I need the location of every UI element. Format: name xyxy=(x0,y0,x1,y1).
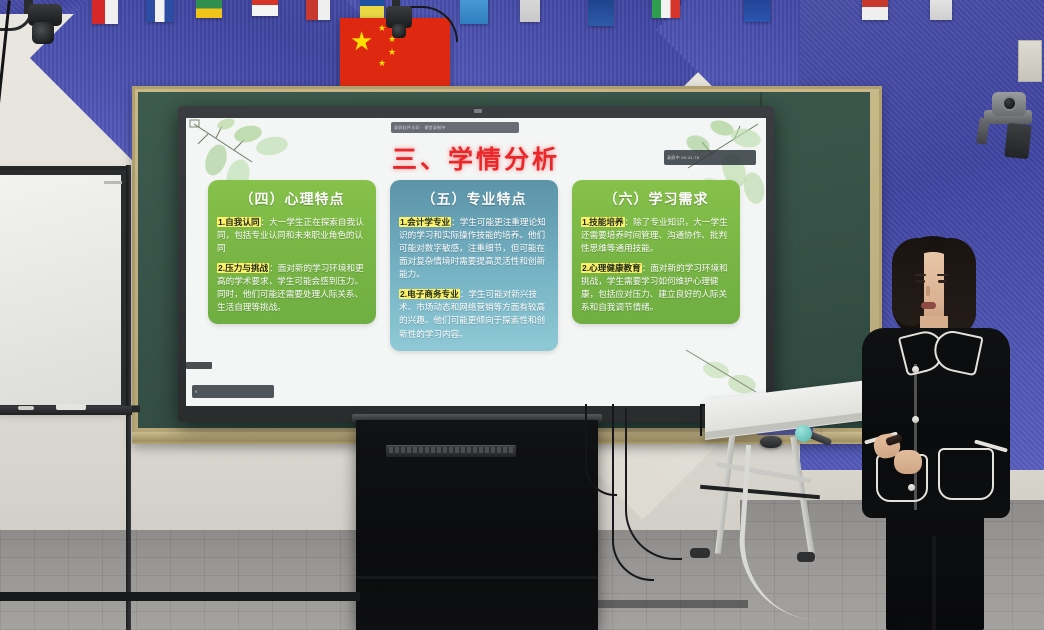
mobile-whiteboard[interactable] xyxy=(0,170,126,410)
keyboard-keys[interactable] xyxy=(389,447,513,453)
power-indicator-icon xyxy=(474,109,482,113)
presenter-eye xyxy=(938,280,947,283)
card-paragraph: 2.压力与挑战：面对新的学习环境和更高的学术要求，学生可能会感到压力。同时，他们… xyxy=(217,262,367,314)
whiteboard-stand-post xyxy=(126,165,131,630)
microphone-icon[interactable] xyxy=(795,425,812,442)
card-body: 1.自我认同：大一学生正在探索自我认同，包括专业认同和未来职业角色的认同 2.压… xyxy=(217,216,367,314)
card-body: 1.技能培养：除了专业知识，大一学生还需要培养时间管理、沟通协作、批判性思维等通… xyxy=(581,216,731,314)
card-heading: （四）心理特点 xyxy=(217,189,367,209)
jacket-button xyxy=(912,366,919,373)
presenter-eyebrow xyxy=(937,274,948,276)
wall-plate xyxy=(1018,40,1042,82)
cable xyxy=(625,408,682,560)
flag-banner xyxy=(862,0,888,20)
flag-banner xyxy=(306,0,330,20)
desk-caster xyxy=(690,548,710,558)
card-heading: （六）学习需求 xyxy=(581,189,731,209)
highlight-label: 1.自我认同 xyxy=(217,217,261,227)
flag-star-large: ★ xyxy=(350,28,373,54)
flag-banner xyxy=(196,0,222,18)
trouser-seam xyxy=(932,536,936,630)
camera-lens-icon xyxy=(1002,96,1017,111)
highlight-label: 2.压力与挑战 xyxy=(217,263,269,273)
whiteboard-eraser[interactable] xyxy=(56,404,86,410)
highlight-label: 2.心理健康教育 xyxy=(581,263,642,273)
camera-lens-icon xyxy=(392,24,406,38)
card-heading: （五）专业特点 xyxy=(399,189,549,209)
slide-card-psychology: （四）心理特点 1.自我认同：大一学生正在探索自我认同，包括专业认同和未来职业角… xyxy=(208,180,376,324)
flag-banner xyxy=(588,0,614,26)
card-paragraph: 1.自我认同：大一学生正在探索自我认同，包括专业认同和未来职业角色的认同 xyxy=(217,216,367,255)
cabinet-shelf-line xyxy=(356,576,598,579)
display-brand-logo xyxy=(186,362,212,369)
flag-banner xyxy=(360,0,384,18)
jacket-pocket xyxy=(938,448,994,500)
presenter-eyebrow xyxy=(915,274,926,276)
display-screen[interactable]: 录屏软件水印 · 课堂录制中 录屏中 00:41:76 9 三、学情分析 （四）… xyxy=(186,118,766,406)
presenter-shoe xyxy=(896,622,926,630)
card-paragraph: 2.心理健康教育：面对新的学习环境和挑战，学生需要学习如何维护心理健康，包括应对… xyxy=(581,262,731,314)
classroom-scene: ★ ★ ★ ★ ★ xyxy=(0,0,1044,630)
highlight-label: 1.会计学专业 xyxy=(399,217,451,227)
camera-lens-icon xyxy=(32,22,54,44)
flag-banner xyxy=(520,0,540,22)
flag-banner xyxy=(252,0,278,16)
presenter-mouth xyxy=(921,302,936,309)
slide-card-row: （四）心理特点 1.自我认同：大一学生正在探索自我认同，包括专业认同和未来职业角… xyxy=(208,180,748,351)
card-paragraph: 2.电子商务专业：学生可能对新兴技术、市场动态和网络营销等方面有较高的兴趣。他们… xyxy=(399,288,549,340)
whiteboard-logo xyxy=(104,181,122,184)
card-paragraph: 1.技能培养：除了专业知识，大一学生还需要培养时间管理、沟通协作、批判性思维等通… xyxy=(581,216,731,255)
flag-banner xyxy=(146,0,174,22)
flag-star-small: ★ xyxy=(388,48,396,57)
wall-baseboard xyxy=(598,600,748,608)
card-paragraph: 1.会计学专业：学生可能更注重理论知识的学习和实际操作技能的培养。他们可能对数字… xyxy=(399,216,549,281)
jacket-button xyxy=(912,416,919,423)
flag-banner xyxy=(930,0,952,20)
whiteboard-marker[interactable] xyxy=(18,406,34,410)
slide-card-needs: （六）学习需求 1.技能培养：除了专业知识，大一学生还需要培养时间管理、沟通协作… xyxy=(572,180,740,324)
flag-star-small: ★ xyxy=(378,24,386,33)
presenter xyxy=(846,236,1026,630)
presenter-hair-strand xyxy=(944,238,976,334)
flag-star-small: ★ xyxy=(378,59,386,68)
presenter-eye xyxy=(916,280,925,283)
ptz-camera-bracket xyxy=(1004,123,1031,159)
slide-title: 三、学情分析 xyxy=(186,140,766,176)
highlight-label: 2.电子商务专业 xyxy=(399,289,460,299)
highlight-label: 1.技能培养 xyxy=(581,217,625,227)
presenter-nose xyxy=(926,286,930,296)
flag-banner xyxy=(652,0,680,18)
flag-banner xyxy=(92,0,118,24)
card-body: 1.会计学专业：学生可能更注重理论知识的学习和实际操作技能的培养。他们可能对数字… xyxy=(399,216,549,341)
recording-watermark-top: 录屏软件水印 · 课堂录制中 xyxy=(391,122,519,133)
flag-banner xyxy=(744,0,770,22)
slide-number-badge: 9 xyxy=(192,385,274,398)
slide-card-major: （五）专业特点 1.会计学专业：学生可能更注重理论知识的学习和实际操作技能的培养… xyxy=(390,180,558,351)
presenter-hand xyxy=(894,450,922,474)
flag-banner xyxy=(460,0,488,24)
wall-baseboard xyxy=(0,592,360,601)
